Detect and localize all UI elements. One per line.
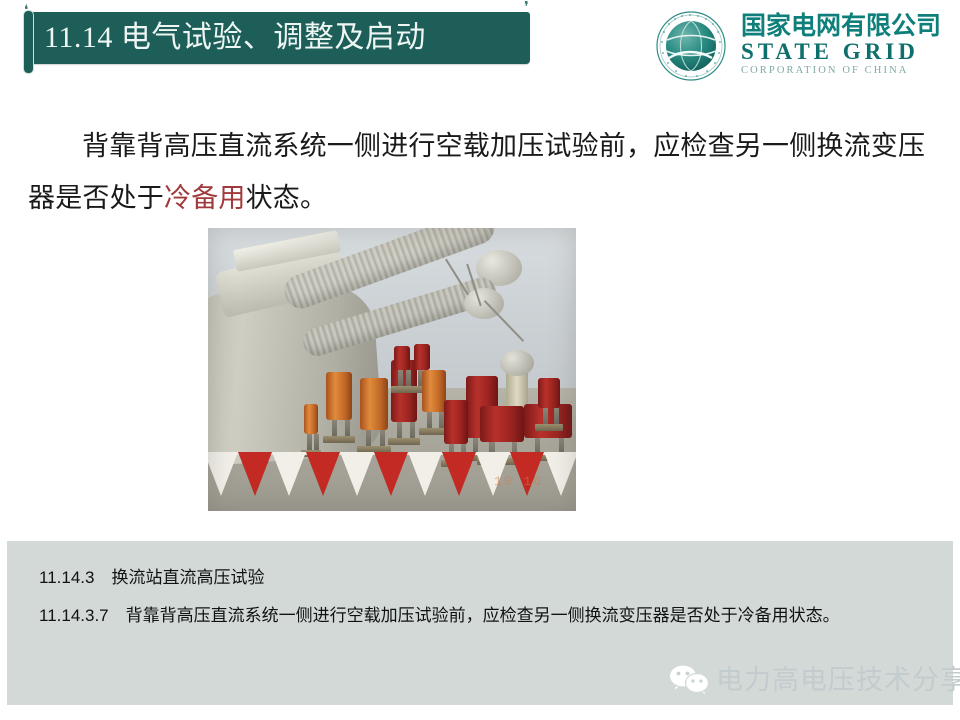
state-grid-globe-emblem [655,10,727,82]
source-clause-heading: 11.14.3 换流站直流高压试验 [39,563,264,588]
state-grid-wordmark: 国家电网有限公司 STATE GRID CORPORATION OF CHINA [741,12,955,82]
brand-name-cn: 国家电网有限公司 [741,12,955,40]
wechat-account-name: 电力高电压技术分享 [716,662,960,698]
wechat-icon [668,664,710,696]
slide-header: ❛ 11.14 电气试验、调整及启动 ❜ [0,0,960,95]
brand-name-en: STATE GRID [741,40,955,64]
page-title: 11.14 电气试验、调整及启动 [30,12,530,64]
body-text-part1: 背靠背高压直流系统一侧进行空载加压试验前，应检查另一侧换流变压器是否处于 [28,131,925,213]
quote-hook-right-icon: ❜ [524,2,536,14]
wechat-watermark: 电力高电压技术分享 [668,660,948,700]
hv-test-site-photo: 10 16 [208,228,576,511]
source-clause-body: 11.14.3.7 背靠背高压直流系统一侧进行空载加压试验前，应检查另一侧换流变… [39,599,929,633]
photo-vignette [208,228,576,511]
brand-subtitle: CORPORATION OF CHINA [741,64,955,77]
body-text-highlight: 冷备用 [164,183,246,213]
body-text-part2: 状态。 [246,183,328,213]
state-grid-logo: 国家电网有限公司 STATE GRID CORPORATION OF CHINA [655,8,955,84]
body-paragraph: 背靠背高压直流系统一侧进行空载加压试验前，应检查另一侧换流变压器是否处于冷备用状… [28,120,932,224]
